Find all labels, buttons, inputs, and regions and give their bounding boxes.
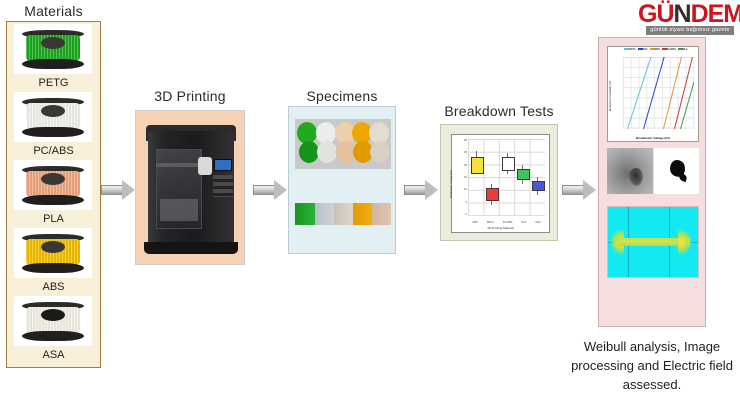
boxplot-plot-area	[468, 139, 545, 216]
legend-label: PC/ABS	[667, 48, 676, 51]
specimen-bar	[315, 203, 334, 225]
specimen-disc	[299, 141, 319, 163]
specimen-bar	[295, 203, 315, 225]
filament-spool-icon	[14, 24, 92, 74]
x-tick: ASA	[535, 221, 540, 224]
material-item: ASA	[7, 294, 100, 362]
legend-entry: PC/ABS	[662, 48, 676, 51]
weibull-y-label: Breakdown Probability (%)	[609, 81, 612, 112]
material-label: PC/ABS	[7, 145, 100, 157]
filament-spool-icon	[14, 296, 92, 346]
breakdown-boxplot-chart: 30 25 20 15 10 5 0 Breakdown Voltage (kV…	[451, 134, 550, 233]
x-tick: ABS	[473, 221, 478, 224]
electric-field-simulation-image	[607, 206, 699, 278]
flow-arrow	[101, 180, 135, 200]
specimens-title: Specimens	[283, 88, 401, 104]
boxplot-gridlines	[468, 139, 545, 216]
flow-arrow	[562, 180, 596, 200]
y-tick: 25	[464, 151, 467, 154]
logo-g: G	[638, 0, 656, 28]
material-item: PLA	[7, 158, 100, 226]
x-tick: PLA	[521, 221, 526, 224]
materials-title: Materials	[6, 3, 101, 19]
fdm-3d-printer-icon	[144, 119, 238, 258]
breakdown-panel: 30 25 20 15 10 5 0 Breakdown Voltage (kV…	[440, 124, 558, 241]
boxplot-x-label: 3D-Printing Material	[452, 226, 549, 230]
binarized-breakdown-image	[653, 148, 699, 194]
y-tick: 30	[464, 139, 467, 142]
specimen-bar	[353, 203, 372, 225]
boxplot-box	[502, 157, 515, 170]
weibull-plot-area	[623, 57, 694, 129]
legend-entry: ABS	[650, 48, 660, 51]
logo-wordmark: GÜNDEM	[638, 2, 738, 26]
image-processing-pair	[607, 148, 699, 194]
material-label: PLA	[7, 213, 100, 225]
specimen-disc	[317, 141, 337, 163]
boxplot-y-ticks: 30 25 20 15 10 5 0	[454, 139, 467, 216]
flow-arrow	[404, 180, 438, 200]
filament-spool-icon	[14, 228, 92, 278]
legend-entry: ASA	[638, 48, 648, 51]
logo-u-umlaut: Ü	[656, 0, 673, 28]
legend-label: ASA	[643, 48, 648, 51]
logo-n: N	[674, 0, 691, 28]
x-tick: PC/ABS	[503, 221, 513, 224]
y-tick: 15	[464, 176, 467, 179]
weibull-x-label: Breakdown Voltage (kV)	[608, 136, 698, 140]
boxplot-box	[517, 169, 530, 180]
y-tick: 5	[466, 201, 467, 204]
boxplot-y-label: Breakdown Voltage (kV)	[450, 170, 453, 198]
material-item: PC/ABS	[7, 90, 100, 158]
filament-spool-icon	[14, 92, 92, 142]
results-caption: Weibull analysis, Image processing and E…	[566, 338, 738, 395]
legend-entry: PLA	[678, 48, 688, 51]
process-flow-figure: Materials PETG PC/ABS PLA ABS	[0, 0, 740, 417]
specimen-bar	[372, 203, 391, 225]
legend-label: PLA	[683, 48, 688, 51]
legend-entry: PETG	[624, 48, 636, 51]
filament-spool-icon	[14, 160, 92, 210]
specimens-panel	[288, 106, 396, 254]
material-label: ASA	[7, 349, 100, 361]
material-label: PETG	[7, 77, 100, 89]
flow-arrow	[253, 180, 287, 200]
legend-label: PETG	[629, 48, 636, 51]
x-tick: PETG	[487, 221, 494, 224]
specimen-disc	[370, 141, 390, 163]
material-label: ABS	[7, 281, 100, 293]
weibull-legend: PETG ASA ABS PC/ABS PLA	[624, 48, 687, 51]
materials-panel: PETG PC/ABS PLA ABS ASA	[6, 21, 101, 368]
specimen-bar	[334, 203, 353, 225]
boxplot-x-ticks: ABS PETG PC/ABS PLA ASA	[468, 221, 545, 224]
specimen-bars	[295, 203, 391, 225]
y-tick: 20	[464, 164, 467, 167]
grayscale-breakdown-image	[607, 148, 653, 194]
material-item: PETG	[7, 22, 100, 90]
y-tick: 10	[464, 188, 467, 191]
breakdown-title: Breakdown Tests	[425, 103, 573, 119]
weibull-plot-chart: PETG ASA ABS PC/ABS PLA Breakdown Probab…	[607, 46, 699, 142]
y-tick: 0	[466, 213, 467, 216]
boxplot-box	[532, 181, 545, 192]
printing-title: 3D Printing	[130, 88, 250, 104]
results-panel: PETG ASA ABS PC/ABS PLA Breakdown Probab…	[598, 37, 706, 327]
logo-tagline: günlük siyasi bağımsız gazete	[646, 26, 734, 35]
specimen-discs	[295, 119, 391, 169]
logo-dem: DEM	[691, 0, 740, 28]
material-item: ABS	[7, 226, 100, 294]
gundem-logo: GÜNDEM günlük siyasi bağımsız gazete	[638, 2, 738, 38]
boxplot-box	[471, 157, 484, 175]
boxplot-box	[486, 188, 499, 202]
legend-label: ABS	[655, 48, 660, 51]
printing-panel	[135, 110, 245, 265]
